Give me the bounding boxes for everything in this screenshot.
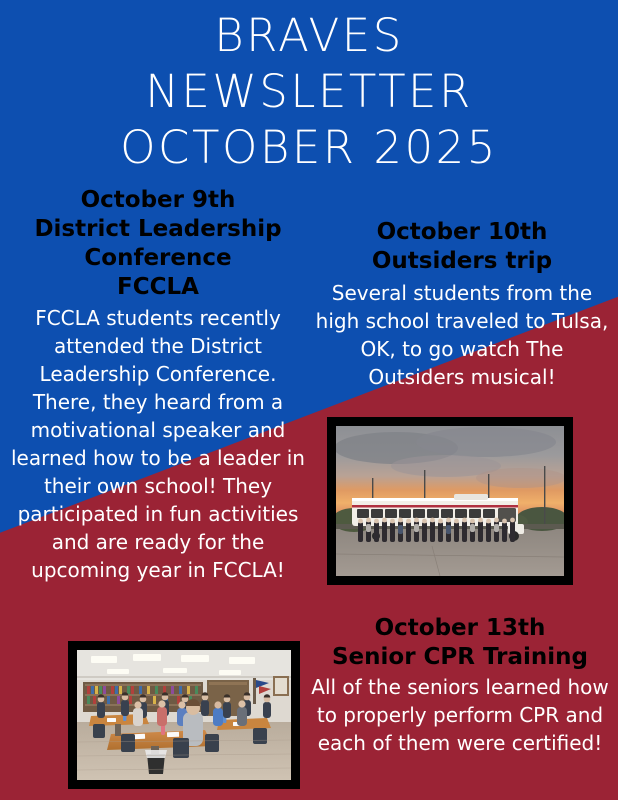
photo-bus	[336, 426, 564, 576]
article-outsiders-body: Several students from the high school tr…	[312, 279, 612, 391]
article-outsiders: October 10th Outsiders trip Several stud…	[312, 218, 612, 391]
photo-library	[77, 650, 291, 780]
masthead-line-newsletter: NEWSLETTER	[0, 64, 618, 120]
masthead-line-braves: BRAVES	[0, 8, 618, 64]
article-cpr: October 13th Senior CPR Training All of …	[306, 614, 614, 757]
article-fccla-title-line-3: FCCLA	[8, 273, 308, 302]
article-fccla-title-line-2: Conference	[8, 244, 308, 273]
photo-library-frame	[68, 641, 300, 789]
article-fccla-body: FCCLA students recently attended the Dis…	[8, 304, 308, 584]
article-fccla-title-line-1: District Leadership	[8, 215, 308, 244]
masthead: BRAVES NEWSLETTER OCTOBER 2025	[0, 8, 618, 176]
photo-bus-frame	[327, 417, 573, 585]
article-outsiders-date: October 10th	[312, 218, 612, 247]
article-cpr-date: October 13th	[306, 614, 614, 643]
article-cpr-title: Senior CPR Training	[306, 643, 614, 672]
newsletter-poster: BRAVES NEWSLETTER OCTOBER 2025 October 9…	[0, 0, 618, 800]
article-cpr-body: All of the seniors learned how to proper…	[306, 673, 614, 757]
masthead-line-date: OCTOBER 2025	[0, 120, 618, 176]
article-fccla: October 9th District Leadership Conferen…	[8, 186, 308, 584]
article-outsiders-title: Outsiders trip	[312, 247, 612, 276]
article-fccla-date: October 9th	[8, 186, 308, 215]
